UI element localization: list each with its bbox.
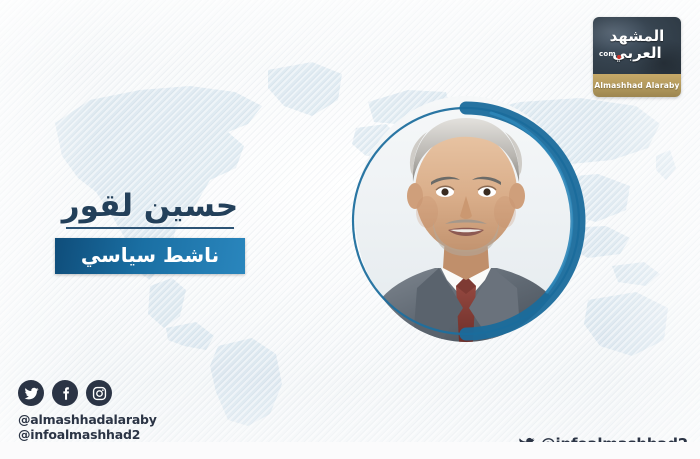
logo-emblem: المشهد العربي com bbox=[593, 17, 681, 74]
logo-red-dot-icon bbox=[617, 55, 621, 59]
logo-arabic-line1: المشهد bbox=[593, 29, 681, 44]
news-personality-card: المشهد العربي com Almashhad Alaraby bbox=[0, 0, 700, 459]
name-underline bbox=[66, 227, 234, 229]
instagram-icon[interactable] bbox=[86, 380, 112, 406]
twitter-bird-glyph bbox=[24, 386, 39, 401]
portrait-photo-mask bbox=[355, 96, 577, 342]
instagram-camera-glyph bbox=[92, 386, 107, 401]
facebook-f-glyph bbox=[58, 386, 73, 401]
channel-logo: المشهد العربي com Almashhad Alaraby bbox=[593, 17, 681, 97]
twitter-icon[interactable] bbox=[18, 380, 44, 406]
portrait-container bbox=[341, 96, 591, 346]
logo-name-band: Almashhad Alaraby bbox=[593, 74, 681, 97]
bottom-strip bbox=[0, 442, 700, 459]
social-handle-2[interactable]: @infoalmashhad2 bbox=[18, 427, 157, 442]
status-badge: ناشط سياسي bbox=[55, 238, 245, 274]
social-handle-1[interactable]: @almashhadalaraby bbox=[18, 412, 157, 427]
logo-latin-name: Almashhad Alaraby bbox=[594, 81, 679, 90]
page-title: حسين لقور bbox=[0, 186, 300, 226]
portrait-photo bbox=[355, 96, 577, 342]
facebook-icon[interactable] bbox=[52, 380, 78, 406]
logo-com-label: com bbox=[599, 50, 616, 58]
subject-name-block: حسين لقور ناشط سياسي bbox=[0, 186, 300, 274]
social-icon-row bbox=[18, 380, 157, 406]
social-footer: @almashhadalaraby @infoalmashhad2 bbox=[18, 380, 157, 442]
